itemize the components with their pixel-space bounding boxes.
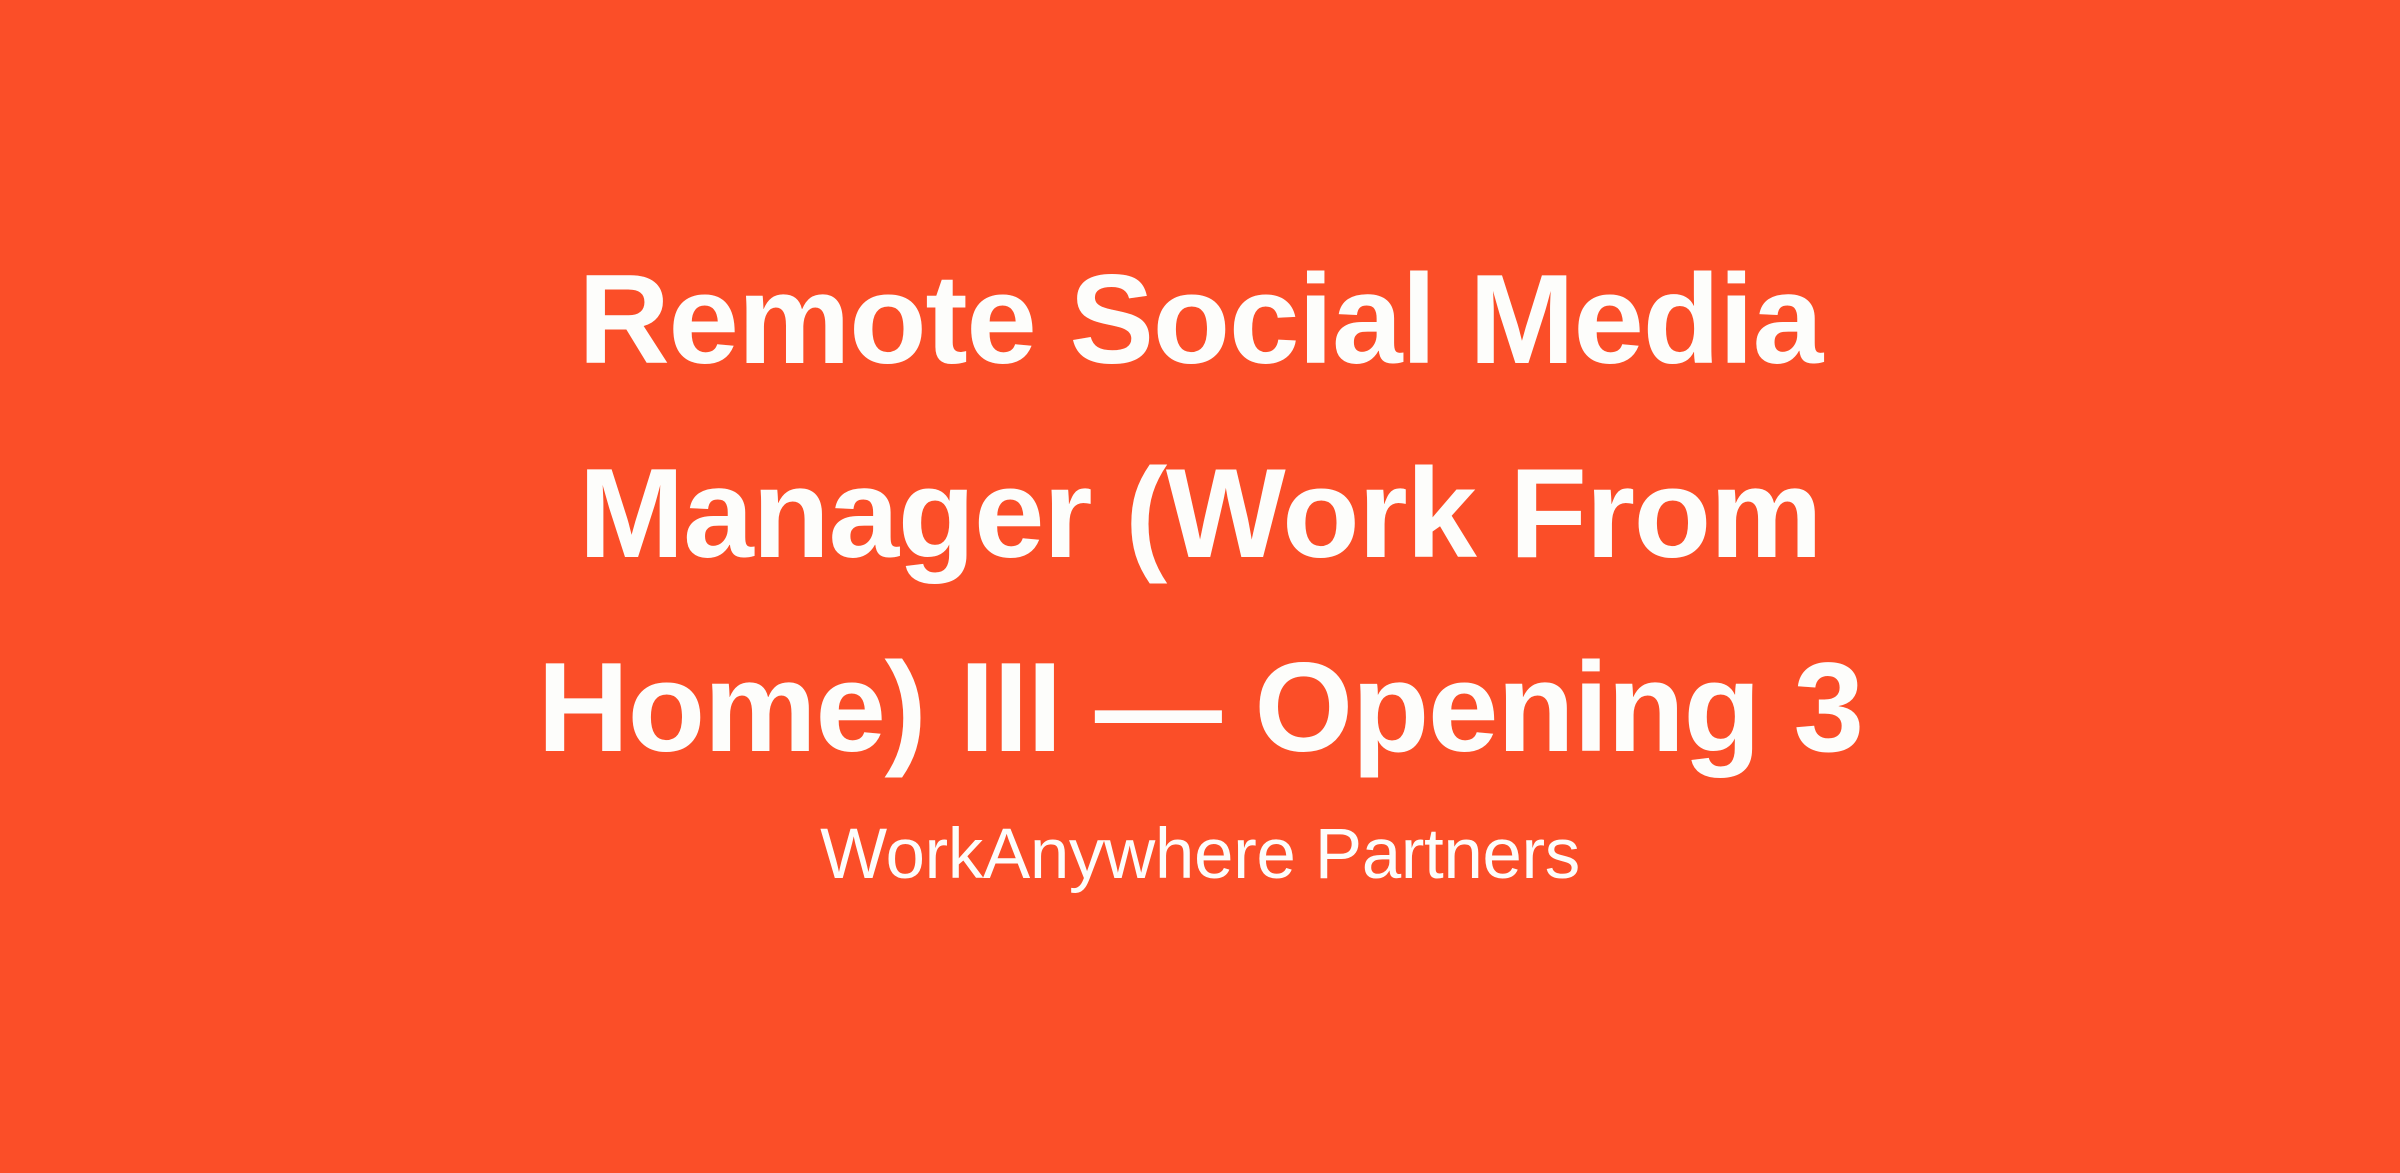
job-posting-card: Remote Social Media Manager (Work From H… [0, 0, 2400, 1173]
job-title: Remote Social Media Manager (Work From H… [530, 222, 1870, 805]
company-name: WorkAnywhere Partners [820, 811, 1580, 900]
card-content: Remote Social Media Manager (Work From H… [530, 222, 1870, 900]
